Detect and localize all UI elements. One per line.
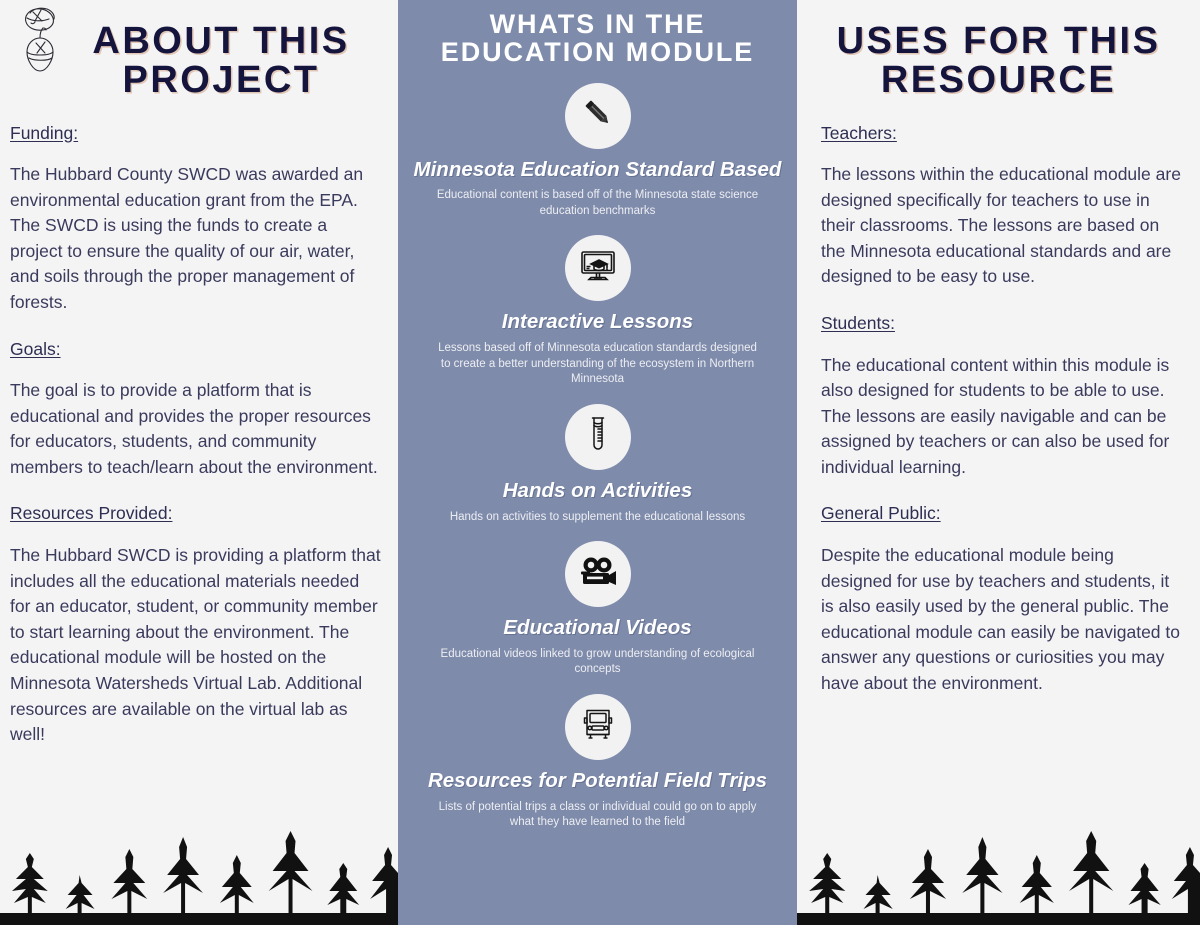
left-body: Funding: The Hubbard County SWCD was awa… (0, 122, 398, 748)
test-tube-icon (578, 414, 618, 459)
section-heading-students: Students: (821, 312, 1184, 335)
section-body-students: The educational content within this modu… (821, 353, 1184, 481)
infographic-poster: About This Project Funding: The Hubbard … (0, 0, 1200, 925)
icon-circle (565, 235, 631, 301)
column-uses-for-this-resource: Uses For This Resource Teachers: The les… (797, 0, 1200, 925)
column-education-module: Whats In The Education Module (398, 0, 797, 925)
page-title-left: About This Project (62, 22, 380, 100)
section-heading-goals: Goals: (10, 338, 384, 361)
page-title-right: Uses For This Resource (819, 22, 1178, 100)
icon-circle (565, 694, 631, 760)
icon-circle (565, 404, 631, 470)
module-item-description: Lessons based off of Minnesota education… (412, 341, 783, 388)
module-item-title: Educational Videos (412, 616, 783, 640)
module-item: Resources for Potential Field Trips List… (398, 694, 797, 831)
pencil-icon (579, 94, 617, 137)
section-heading-general-public: General Public: (821, 502, 1184, 525)
section-heading-funding: Funding: (10, 122, 384, 145)
module-item-description: Lists of potential trips a class or indi… (412, 800, 783, 831)
module-item: Interactive Lessons Lessons based off of… (398, 235, 797, 387)
module-item-title: Minnesota Education Standard Based (412, 158, 783, 182)
section-body-teachers: The lessons within the educational modul… (821, 162, 1184, 290)
section-heading-resources-provided: Resources Provided: (10, 502, 384, 525)
page-title-middle: Whats In The Education Module (416, 10, 779, 67)
icon-circle (565, 83, 631, 149)
monitor-graduation-cap-icon (578, 246, 618, 291)
section-heading-teachers: Teachers: (821, 122, 1184, 145)
pine-forest-silhouette-left (0, 825, 398, 925)
module-item-title: Resources for Potential Field Trips (412, 769, 783, 793)
icon-circle (565, 541, 631, 607)
module-item: Minnesota Education Standard Based Educa… (398, 83, 797, 220)
section-body-funding: The Hubbard County SWCD was awarded an e… (10, 162, 384, 315)
module-item: Hands on Activities Hands on activities … (398, 404, 797, 525)
section-body-resources-provided: The Hubbard SWCD is providing a platform… (10, 543, 384, 747)
module-item: Educational Videos Educational videos li… (398, 541, 797, 678)
pine-forest-silhouette-right (797, 825, 1200, 925)
module-item-description: Educational videos linked to grow unders… (412, 647, 783, 678)
module-item-description: Educational content is based off of the … (412, 188, 783, 219)
section-body-general-public: Despite the educational module being des… (821, 543, 1184, 696)
section-body-goals: The goal is to provide a platform that i… (10, 378, 384, 480)
right-body: Teachers: The lessons within the educati… (797, 122, 1200, 697)
module-item-title: Hands on Activities (412, 479, 783, 503)
column-about-this-project: About This Project Funding: The Hubbard … (0, 0, 398, 925)
acorn-illustration (14, 2, 76, 80)
school-bus-icon (578, 704, 618, 749)
module-item-title: Interactive Lessons (412, 310, 783, 334)
module-item-description: Hands on activities to supplement the ed… (412, 510, 783, 526)
movie-camera-icon (578, 552, 618, 597)
